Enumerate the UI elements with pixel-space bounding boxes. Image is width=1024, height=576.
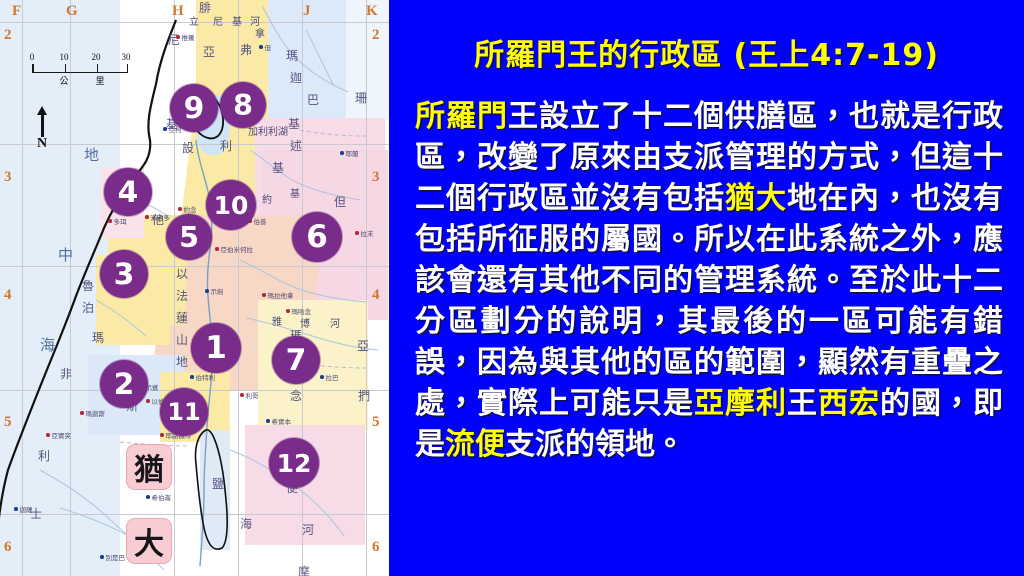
map-region-label: 巴 — [307, 94, 320, 107]
town-name: 示劍 — [211, 286, 224, 296]
map-region-label: 利 — [38, 450, 51, 463]
district-marker-3[interactable]: 3 — [100, 250, 148, 298]
map-town: 迦薩 — [14, 504, 33, 514]
map-column-index-label: F — [12, 4, 21, 19]
compass-arrow-icon — [37, 106, 47, 115]
town-dot-icon — [190, 375, 194, 379]
town-name: 希實本 — [272, 416, 292, 426]
town-dot-icon — [355, 231, 359, 235]
town-name: 多珥 — [114, 216, 127, 226]
map-town: 拉末 — [355, 228, 374, 238]
town-name: 米吉多 — [151, 212, 171, 222]
town-name: 耶蘭 — [346, 148, 359, 158]
map-column-index-label: K — [366, 4, 378, 19]
map-town: 希實本 — [266, 416, 291, 426]
town-dot-icon — [145, 215, 149, 219]
map-town: 別是巴 — [100, 552, 125, 562]
map-region-label: 鹽 — [212, 478, 225, 491]
map-row-index-label: 6 — [4, 540, 12, 555]
body-text-run: 地在內，也沒有包括所征服的屬國。所以在此系統之外，應該會還有其他不同的管理系統。… — [415, 181, 1003, 421]
map-region-label: 河 — [330, 320, 340, 331]
map-column-index-label: H — [172, 4, 184, 19]
map-row-index-label: 6 — [372, 540, 380, 555]
map-town: 約念 — [178, 204, 197, 214]
map-region-label: 基 — [288, 118, 301, 131]
map-row-index-label: 5 — [4, 415, 12, 430]
map-town: 亞伯米何拉 — [215, 244, 253, 254]
map-boxed-label: 猶 — [126, 444, 172, 490]
map-sea-label: 中 — [58, 248, 81, 264]
map-region-label: 利 — [220, 140, 233, 153]
scale-tick-labels: 0102030 — [32, 52, 128, 64]
town-name: 推羅 — [182, 32, 195, 42]
map-region-label: 亞 — [203, 46, 216, 59]
compass-north-icon: N — [30, 106, 54, 151]
map-sea-label: 海 — [40, 338, 63, 354]
map-row-index-label: 4 — [4, 288, 12, 303]
town-dot-icon — [320, 375, 324, 379]
map-region-label: 非 — [60, 368, 73, 381]
map-column-index-label: J — [303, 4, 311, 19]
slide-title: 所羅門王的行政區 (王上4:7-19) — [389, 30, 1024, 74]
district-marker-12[interactable]: 12 — [269, 438, 319, 488]
map-town: 耶蘭 — [340, 148, 359, 158]
district-marker-11[interactable]: 11 — [160, 388, 208, 436]
town-name: 瑪迦斯 — [86, 408, 106, 418]
town-name: 伯善 — [254, 216, 267, 226]
map-region-label: 基 — [290, 190, 300, 201]
map-region-label: 瑪 — [92, 332, 105, 345]
compass-stem — [41, 115, 44, 137]
map-region-label: 摩 — [298, 566, 311, 576]
town-dot-icon — [163, 127, 167, 131]
map-region-label: 設 — [182, 142, 195, 155]
map-row-index-label: 4 — [372, 288, 380, 303]
map-region-label: 但 — [334, 196, 347, 209]
town-dot-icon — [146, 495, 150, 499]
town-dot-icon — [266, 419, 270, 423]
town-dot-icon — [286, 309, 290, 313]
town-name: 伯特利 — [196, 372, 216, 382]
town-name: 拉巴 — [326, 372, 339, 382]
town-name: 但 — [265, 42, 272, 52]
town-name: 亞實突 — [52, 430, 72, 440]
town-name: 拉末 — [361, 228, 374, 238]
map-region-label: 珊 — [355, 92, 368, 105]
town-name: 瑪拉他拿 — [268, 290, 294, 300]
map-region-label: 山 — [176, 334, 189, 347]
scale-unit-char-1: 公 — [59, 74, 68, 87]
map-town: 多珥 — [108, 216, 127, 226]
map-sea-label: 地 — [84, 148, 107, 164]
map-town: 伯特利 — [190, 372, 215, 382]
district-marker-10[interactable]: 10 — [206, 180, 256, 230]
map-town: 瑪哈念 — [286, 306, 311, 316]
district-marker-4[interactable]: 4 — [104, 168, 152, 216]
body-highlight-run: 流便 — [445, 427, 505, 462]
map-town: 瑪迦斯 — [80, 408, 105, 418]
town-name: 亞伯米何拉 — [221, 244, 254, 254]
town-name: 約念 — [184, 204, 197, 214]
town-name: 利哥 — [246, 390, 259, 400]
map-region-label: 河 — [250, 18, 260, 29]
district-marker-9[interactable]: 9 — [170, 84, 218, 132]
town-dot-icon — [108, 219, 112, 223]
town-dot-icon — [240, 393, 244, 397]
map-region-label: 以 — [176, 268, 189, 281]
town-name: 別是巴 — [106, 552, 126, 562]
map-town: 示劍 — [205, 286, 224, 296]
map-region-label: 法 — [176, 290, 189, 303]
map-town: 希伯崙 — [146, 492, 171, 502]
map-region-label: 約 — [262, 196, 272, 207]
district-marker-6[interactable]: 6 — [292, 212, 342, 262]
scale-tick-label: 20 — [92, 52, 101, 62]
map-region-label: 蓮 — [176, 312, 189, 325]
map-row-index-label: 3 — [4, 170, 12, 185]
district-marker-1[interactable]: 1 — [191, 323, 241, 373]
town-dot-icon — [146, 399, 150, 403]
town-dot-icon — [100, 555, 104, 559]
map-panel: FGHJK 23456 23456 0102030 公 里 N 地中海 腓立尼基 — [0, 0, 389, 576]
map-region-label: 泊 — [82, 302, 95, 315]
text-panel: 所羅門王的行政區 (王上4:7-19) 所羅門王設立了十二個供膳區，也就是行政區… — [389, 0, 1024, 576]
map-town: 拉巴 — [320, 372, 339, 382]
scale-tick-label: 30 — [122, 52, 131, 62]
town-dot-icon — [262, 293, 266, 297]
map-region-label: 述 — [290, 140, 303, 153]
map-region-label: 海 — [240, 518, 253, 531]
map-region-label: 雅 — [272, 318, 282, 329]
map-region-label: 拿 — [255, 30, 265, 41]
body-highlight-run: 猶大 — [725, 181, 787, 216]
town-name: 瑪哈念 — [292, 306, 312, 316]
compass-north-label: N — [30, 137, 54, 151]
body-text-run: 王 — [787, 386, 818, 421]
map-region-label: 地 — [176, 356, 189, 369]
district-marker-8[interactable]: 8 — [220, 82, 266, 128]
body-highlight-run: 亞摩利 — [694, 386, 787, 421]
map-region-label: 立 — [189, 18, 199, 29]
map-region-label: 基 — [232, 18, 242, 29]
scale-tick-label: 0 — [30, 52, 35, 62]
town-dot-icon — [259, 45, 263, 49]
body-highlight-run: 西宏 — [818, 386, 880, 421]
map-region-label: 亞 — [357, 340, 370, 353]
map-region-label: 捫 — [358, 390, 371, 403]
map-town: 亞實突 — [46, 430, 71, 440]
map-region-label: 弗 — [240, 44, 253, 57]
map-town: 瑪拉他拿 — [262, 290, 294, 300]
body-text-run: 支派的領地。 — [505, 427, 685, 462]
map-boxed-label: 大 — [126, 518, 172, 564]
town-dot-icon — [46, 433, 50, 437]
slide-body-text: 所羅門王設立了十二個供膳區，也就是行政區，改變了原來由支派管理的方式，但這十二個… — [415, 96, 1003, 465]
map-town: 利哥 — [240, 390, 259, 400]
town-dot-icon — [215, 247, 219, 251]
map-region-label: 念 — [290, 390, 303, 403]
town-dot-icon — [80, 411, 84, 415]
body-highlight-run: 所羅門 — [415, 99, 508, 134]
map-region-label: 魯 — [82, 280, 95, 293]
map-region-label: 迦 — [290, 72, 303, 85]
scale-bar-rule — [32, 64, 128, 73]
district-marker-5[interactable]: 5 — [166, 214, 212, 260]
map-scale-bar: 0102030 公 里 — [32, 52, 128, 87]
town-dot-icon — [14, 507, 18, 511]
map-row-index-label: 5 — [372, 415, 380, 430]
town-name: 迦薩 — [20, 504, 33, 514]
map-column-index-label: G — [66, 4, 78, 19]
town-dot-icon — [160, 433, 164, 437]
district-marker-2[interactable]: 2 — [100, 360, 148, 408]
map-region-label: 河 — [302, 524, 315, 537]
map-region-label: 博 — [300, 320, 310, 331]
slide-root: FGHJK 23456 23456 0102030 公 里 N 地中海 腓立尼基 — [0, 0, 1024, 576]
map-region-label: 基 — [272, 162, 285, 175]
map-town: 推羅 — [176, 32, 195, 42]
map-region-label: 加利利湖 — [248, 128, 288, 139]
scale-tick-label: 10 — [60, 52, 69, 62]
town-name: 希伯崙 — [152, 492, 172, 502]
town-dot-icon — [178, 207, 182, 211]
town-dot-icon — [205, 289, 209, 293]
scale-unit-char-2: 里 — [95, 74, 104, 87]
town-dot-icon — [176, 35, 180, 39]
town-dot-icon — [340, 151, 344, 155]
map-region-label: 腓 — [199, 2, 212, 15]
map-region-label: 尼 — [213, 18, 223, 29]
map-town: 但 — [259, 42, 271, 52]
map-town: 米吉多 — [145, 212, 170, 222]
district-marker-7[interactable]: 7 — [272, 336, 320, 384]
map-row-index-label: 2 — [4, 28, 12, 43]
scale-unit: 公 里 — [32, 74, 128, 87]
map-row-index-label: 2 — [372, 28, 380, 43]
map-row-index-label: 3 — [372, 170, 380, 185]
map-region-label: 瑪 — [286, 50, 299, 63]
